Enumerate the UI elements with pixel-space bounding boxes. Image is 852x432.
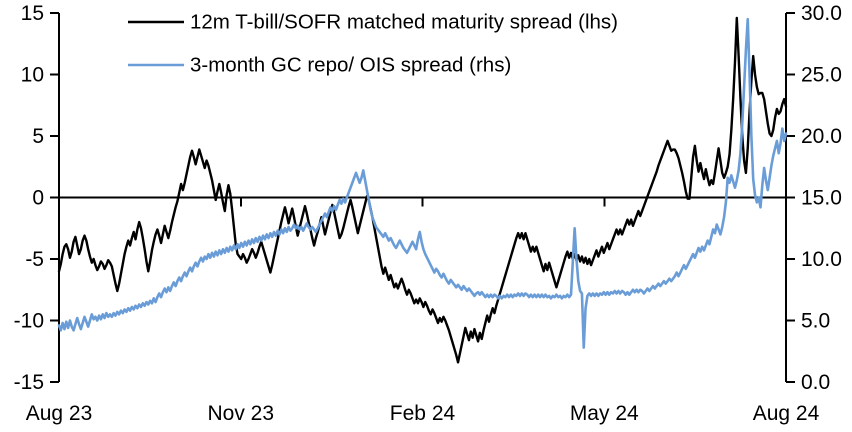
left-axis-tick-label: 0 (32, 187, 44, 210)
right-axis-tick-label: 20.0 (801, 125, 842, 148)
line-chart: -15-10-5051015 0.05.010.015.020.025.030.… (0, 0, 852, 432)
right-axis-tick-label: 0.0 (801, 371, 830, 394)
x-axis-tick-label: Aug 24 (753, 402, 820, 425)
left-axis-tick-label: -5 (25, 248, 44, 271)
right-axis-tick-label: 15.0 (801, 187, 842, 210)
right-axis-tick-label: 10.0 (801, 248, 842, 271)
legend-label-gc-repo-ois: 3-month GC repo/ OIS spread (rhs) (190, 53, 511, 76)
left-axis-tick-label: -10 (14, 310, 44, 333)
right-axis-tick-label: 5.0 (801, 310, 830, 333)
chart-container: -15-10-5051015 0.05.010.015.020.025.030.… (0, 0, 852, 432)
left-axis-tick-label: -15 (14, 371, 44, 394)
right-axis-tick-label: 25.0 (801, 64, 842, 87)
left-axis-tick-label: 5 (32, 125, 44, 148)
x-axis-tick-label: Feb 24 (390, 402, 456, 425)
x-axis-tick-label: Aug 23 (26, 402, 93, 425)
x-axis-tick-label: May 24 (570, 402, 639, 425)
left-axis-tick-label: 15 (21, 2, 44, 25)
right-axis-tick-label: 30.0 (801, 2, 842, 25)
left-axis-tick-label: 10 (21, 64, 44, 87)
legend-label-tbill-sofr: 12m T-bill/SOFR matched maturity spread … (190, 10, 618, 33)
x-axis-tick-label: Nov 23 (207, 402, 274, 425)
